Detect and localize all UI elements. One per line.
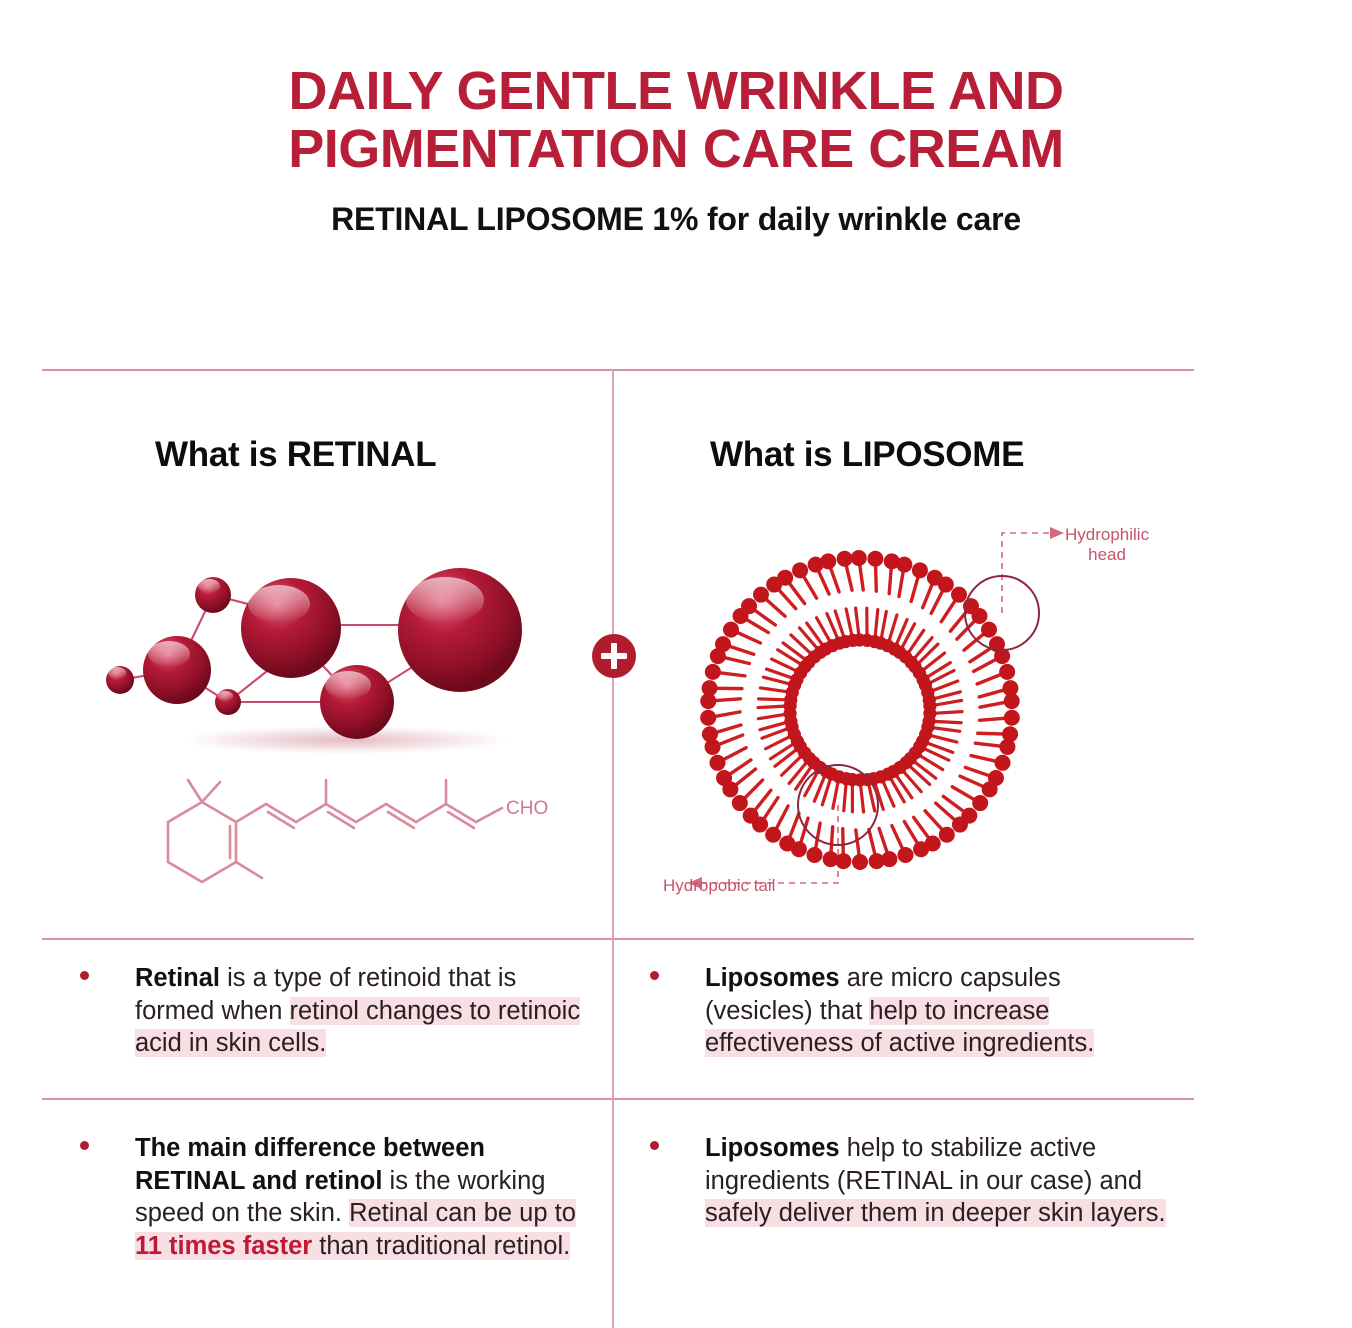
bullet-text: Liposomes are micro capsules (vesicles) … bbox=[650, 962, 1170, 1060]
page-title-line-2: PIGMENTATION CARE CREAM bbox=[151, 120, 1201, 178]
page-title: DAILY GENTLE WRINKLE AND PIGMENTATION CA… bbox=[151, 62, 1201, 179]
plus-icon bbox=[592, 634, 636, 678]
callout-hydrophobic-tail: Hydropobic tail bbox=[663, 876, 775, 896]
divider-top bbox=[42, 369, 1194, 371]
page-subtitle: RETINAL LIPOSOME 1% for daily wrinkle ca… bbox=[0, 201, 1352, 238]
bullet-text: Liposomes help to stabilize active ingre… bbox=[650, 1132, 1170, 1230]
bullet-dot bbox=[80, 1141, 89, 1150]
callout-hydrophilic-head: Hydrophilic head bbox=[1065, 525, 1149, 566]
chem-formula-label: CHO bbox=[506, 798, 548, 819]
callout-head-line2: head bbox=[1065, 545, 1149, 565]
divider-middle-2 bbox=[42, 1098, 1194, 1100]
bullet-text: The main difference between RETINAL and … bbox=[80, 1132, 600, 1263]
section-heading-retinal: What is RETINAL bbox=[155, 435, 436, 475]
divider-vertical bbox=[612, 369, 614, 1328]
page-title-line-1: DAILY GENTLE WRINKLE AND bbox=[151, 62, 1201, 120]
bullet-liposome-definition: Liposomes are micro capsules (vesicles) … bbox=[650, 962, 1170, 1060]
retinal-molecule-icon bbox=[95, 540, 555, 770]
bullet-text: Retinal is a type of retinoid that is fo… bbox=[80, 962, 600, 1060]
liposome-diagram-icon bbox=[650, 505, 1190, 915]
callout-head-line1: Hydrophilic bbox=[1065, 525, 1149, 545]
retinal-chemical-structure-icon: CHO bbox=[150, 770, 550, 900]
bullet-dot bbox=[80, 971, 89, 980]
bullet-dot bbox=[650, 971, 659, 980]
arrow-head-hydrophilic bbox=[1050, 527, 1064, 539]
phospholipid-bilayer bbox=[700, 550, 1020, 870]
header: DAILY GENTLE WRINKLE AND PIGMENTATION CA… bbox=[0, 0, 1352, 238]
section-heading-liposome: What is LIPOSOME bbox=[710, 435, 1024, 475]
divider-middle-1 bbox=[42, 938, 1194, 940]
bullet-retinal-vs-retinol: The main difference between RETINAL and … bbox=[80, 1132, 600, 1263]
bullet-dot bbox=[650, 1141, 659, 1150]
bullet-liposome-delivery: Liposomes help to stabilize active ingre… bbox=[650, 1132, 1170, 1230]
bullet-retinal-definition: Retinal is a type of retinoid that is fo… bbox=[80, 962, 600, 1060]
